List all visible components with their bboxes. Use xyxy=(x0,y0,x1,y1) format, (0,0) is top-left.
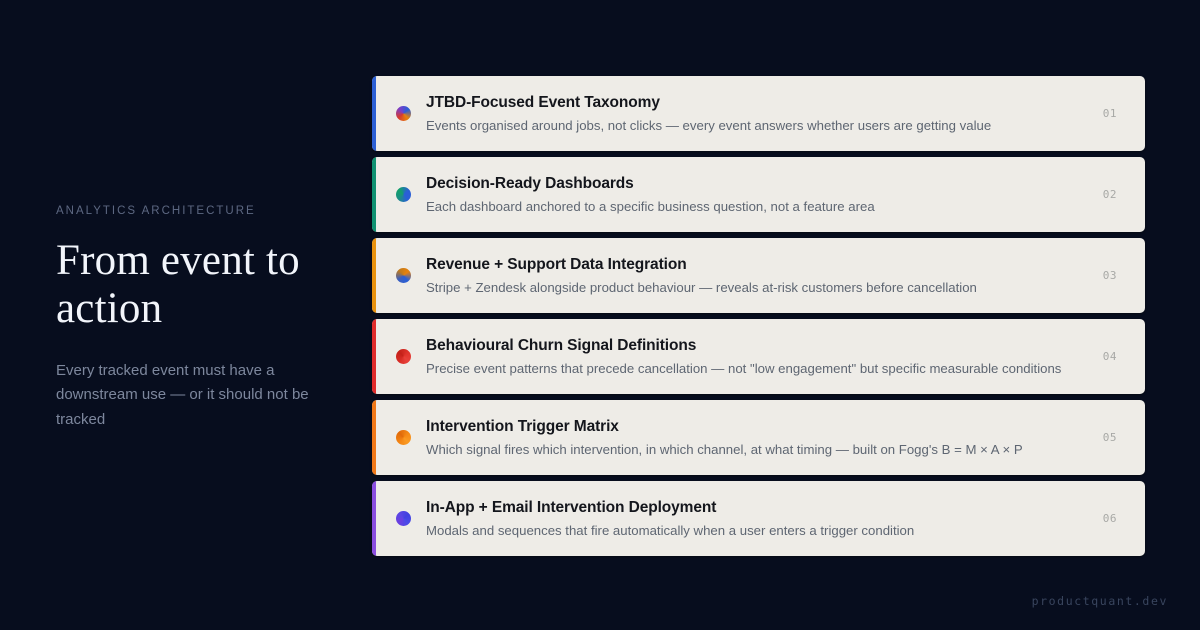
card-description: Modals and sequences that fire automatic… xyxy=(426,522,1103,539)
card-description: Events organised around jobs, not clicks… xyxy=(426,117,1103,134)
card-text-block: Behavioural Churn Signal DefinitionsPrec… xyxy=(426,336,1103,377)
card-title: Revenue + Support Data Integration xyxy=(426,255,1103,274)
card-title: JTBD-Focused Event Taxonomy xyxy=(426,93,1103,112)
card-row[interactable]: JTBD-Focused Event TaxonomyEvents organi… xyxy=(372,76,1145,151)
card-row[interactable]: Decision-Ready DashboardsEach dashboard … xyxy=(372,157,1145,232)
card-title: Intervention Trigger Matrix xyxy=(426,417,1103,436)
card-text-block: In-App + Email Intervention DeploymentMo… xyxy=(426,498,1103,539)
slide-canvas: ANALYTICS ARCHITECTURE From event to act… xyxy=(0,0,1200,630)
gradient-dot-icon xyxy=(396,268,411,283)
card-text-block: JTBD-Focused Event TaxonomyEvents organi… xyxy=(426,93,1103,134)
gradient-dot-icon xyxy=(396,106,411,121)
card-title: Decision-Ready Dashboards xyxy=(426,174,1103,193)
gradient-dot-icon xyxy=(396,187,411,202)
accent-bar xyxy=(372,76,376,151)
accent-bar xyxy=(372,400,376,475)
card-row[interactable]: Intervention Trigger MatrixWhich signal … xyxy=(372,400,1145,475)
footer-url: productquant.dev xyxy=(1032,594,1168,608)
accent-bar xyxy=(372,481,376,556)
left-panel: ANALYTICS ARCHITECTURE From event to act… xyxy=(56,205,346,432)
card-number: 05 xyxy=(1103,431,1117,444)
card-number: 02 xyxy=(1103,188,1117,201)
card-row[interactable]: Behavioural Churn Signal DefinitionsPrec… xyxy=(372,319,1145,394)
card-number: 06 xyxy=(1103,512,1117,525)
card-number: 04 xyxy=(1103,350,1117,363)
card-row[interactable]: In-App + Email Intervention DeploymentMo… xyxy=(372,481,1145,556)
card-description: Precise event patterns that precede canc… xyxy=(426,360,1103,377)
card-title: Behavioural Churn Signal Definitions xyxy=(426,336,1103,355)
card-text-block: Decision-Ready DashboardsEach dashboard … xyxy=(426,174,1103,215)
card-description: Each dashboard anchored to a specific bu… xyxy=(426,198,1103,215)
card-text-block: Revenue + Support Data IntegrationStripe… xyxy=(426,255,1103,296)
gradient-dot-icon xyxy=(396,430,411,445)
gradient-dot-icon xyxy=(396,511,411,526)
page-subcopy: Every tracked event must have a downstre… xyxy=(56,359,318,432)
accent-bar xyxy=(372,319,376,394)
accent-bar xyxy=(372,238,376,313)
card-description: Which signal fires which intervention, i… xyxy=(426,441,1103,458)
card-list: JTBD-Focused Event TaxonomyEvents organi… xyxy=(372,76,1145,556)
gradient-dot-icon xyxy=(396,349,411,364)
accent-bar xyxy=(372,157,376,232)
card-row[interactable]: Revenue + Support Data IntegrationStripe… xyxy=(372,238,1145,313)
card-text-block: Intervention Trigger MatrixWhich signal … xyxy=(426,417,1103,458)
card-number: 03 xyxy=(1103,269,1117,282)
card-title: In-App + Email Intervention Deployment xyxy=(426,498,1103,517)
page-title: From event to action xyxy=(56,237,346,333)
eyebrow-label: ANALYTICS ARCHITECTURE xyxy=(56,205,346,219)
card-description: Stripe + Zendesk alongside product behav… xyxy=(426,279,1103,296)
card-number: 01 xyxy=(1103,107,1117,120)
